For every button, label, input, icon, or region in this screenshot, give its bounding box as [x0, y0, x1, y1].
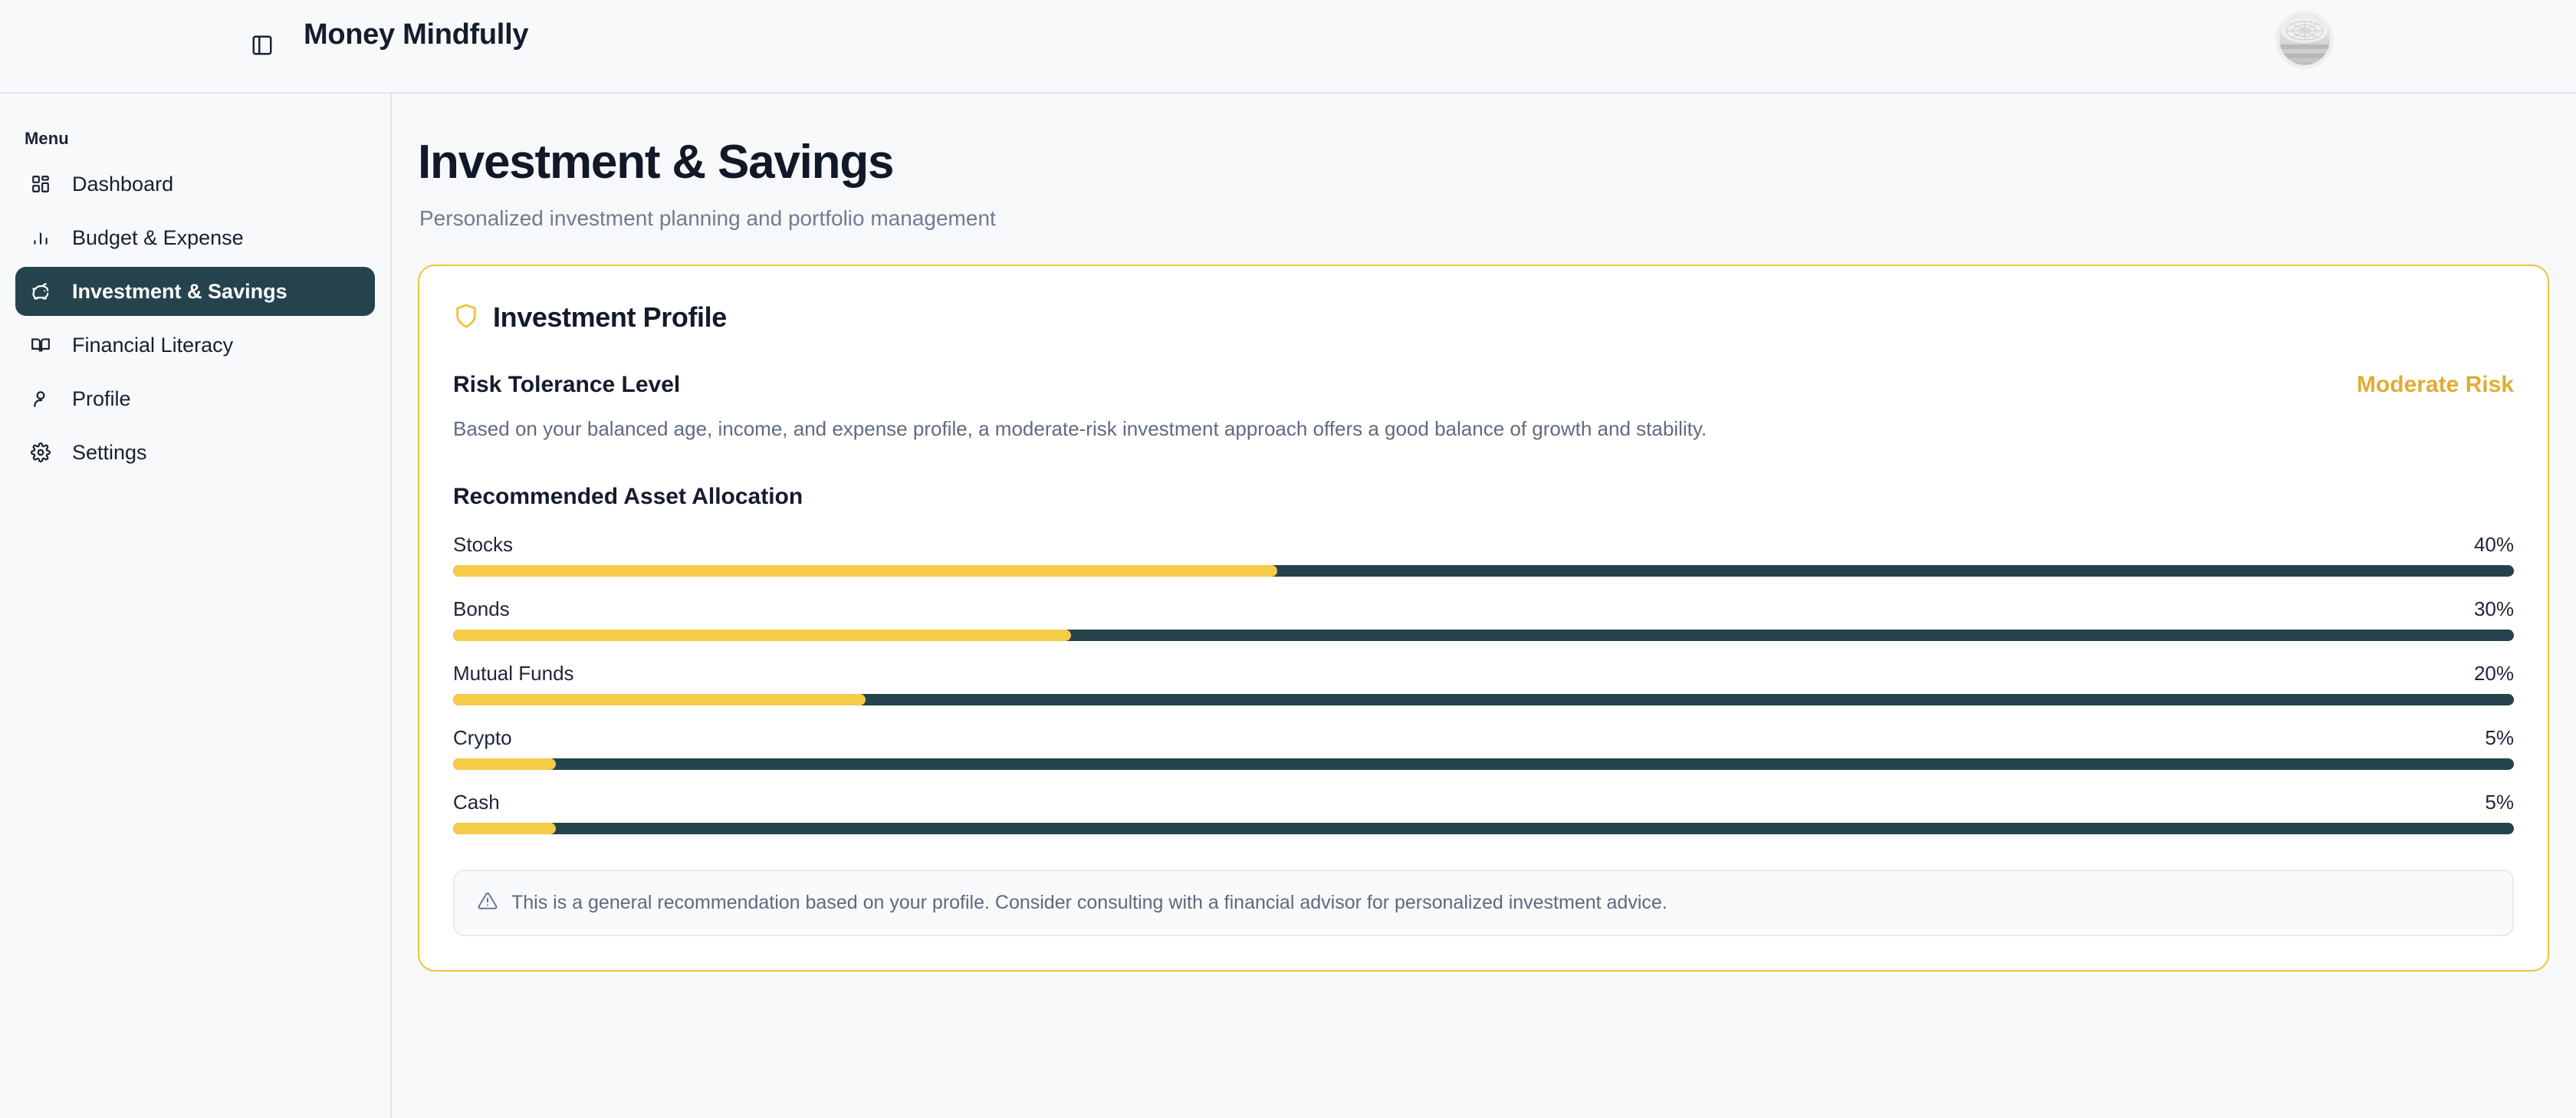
allocation-name: Stocks — [453, 533, 513, 557]
sidebar-item-label: Budget & Expense — [72, 226, 244, 250]
allocation-name: Bonds — [453, 597, 510, 621]
allocation-name: Mutual Funds — [453, 662, 574, 686]
disclaimer-notice: This is a general recommendation based o… — [453, 870, 2514, 936]
user-avatar-image — [2275, 11, 2334, 69]
alert-triangle-icon — [478, 891, 498, 915]
allocation-bar-fill — [453, 565, 1277, 577]
layout-grid-icon — [31, 173, 61, 196]
allocation-bar-fill — [453, 823, 556, 834]
allocation-name: Crypto — [453, 726, 512, 750]
panel-left-icon — [251, 34, 274, 59]
sidebar-item-profile[interactable]: Profile — [15, 374, 375, 423]
allocation-percent: 20% — [2474, 662, 2514, 686]
top-bar: Money Mindfully — [0, 0, 2576, 94]
app-title: Money Mindfully — [304, 18, 528, 51]
allocation-row: Bonds 30% — [453, 597, 2514, 641]
allocation-bar-fill — [453, 630, 1071, 641]
allocation-percent: 30% — [2474, 597, 2514, 621]
allocation-percent: 5% — [2485, 791, 2514, 814]
sidebar-item-label: Settings — [72, 441, 147, 465]
allocation-percent: 40% — [2474, 533, 2514, 557]
sidebar-item-budget-expense[interactable]: Budget & Expense — [15, 213, 375, 262]
allocation-bar-track — [453, 758, 2514, 770]
investment-profile-card: Investment Profile Risk Tolerance Level … — [418, 265, 2549, 972]
book-open-icon — [31, 334, 61, 357]
sidebar-toggle-button[interactable] — [245, 29, 279, 63]
allocation-bar-track — [453, 565, 2514, 577]
avatar[interactable] — [2275, 11, 2334, 69]
sidebar: Menu Dashboard Budget & Expense — [0, 94, 392, 1118]
gear-icon — [31, 441, 61, 464]
allocation-bar-fill — [453, 758, 556, 770]
card-title: Investment Profile — [493, 301, 727, 334]
card-header: Investment Profile — [453, 301, 2514, 334]
piggy-bank-icon — [31, 280, 61, 303]
allocation-name: Cash — [453, 791, 500, 814]
sidebar-item-label: Dashboard — [72, 173, 173, 196]
risk-tolerance-label: Risk Tolerance Level — [453, 372, 680, 398]
page-title: Investment & Savings — [418, 135, 2576, 189]
sidebar-item-investment-savings[interactable]: Investment & Savings — [15, 267, 375, 316]
sidebar-item-settings[interactable]: Settings — [15, 428, 375, 477]
disclaimer-text: This is a general recommendation based o… — [511, 892, 1667, 914]
sidebar-item-label: Investment & Savings — [72, 280, 287, 304]
bar-chart-icon — [31, 226, 61, 249]
user-icon — [31, 387, 61, 410]
risk-tolerance-row: Risk Tolerance Level Moderate Risk — [453, 372, 2514, 398]
sidebar-item-dashboard[interactable]: Dashboard — [15, 159, 375, 209]
allocation-bar-track — [453, 823, 2514, 834]
allocation-row: Crypto 5% — [453, 726, 2514, 770]
allocation-bar-track — [453, 694, 2514, 705]
sidebar-item-label: Financial Literacy — [72, 334, 233, 357]
allocation-bar-track — [453, 630, 2514, 641]
main-content: Investment & Savings Personalized invest… — [392, 94, 2576, 1118]
allocation-row: Mutual Funds 20% — [453, 662, 2514, 705]
page-subtitle: Personalized investment planning and por… — [419, 206, 2576, 231]
allocation-row: Cash 5% — [453, 791, 2514, 834]
allocation-bar-fill — [453, 694, 866, 705]
allocation-percent: 5% — [2485, 726, 2514, 750]
risk-level-badge: Moderate Risk — [2357, 372, 2514, 398]
sidebar-section-label: Menu — [25, 129, 390, 149]
shield-icon — [453, 303, 479, 333]
asset-allocation-list: Stocks 40% Bonds 30% Mutual Funds — [453, 533, 2514, 834]
risk-description: Based on your balanced age, income, and … — [453, 415, 2514, 444]
sidebar-item-financial-literacy[interactable]: Financial Literacy — [15, 321, 375, 370]
allocation-title: Recommended Asset Allocation — [453, 484, 2514, 510]
allocation-row: Stocks 40% — [453, 533, 2514, 577]
sidebar-item-label: Profile — [72, 387, 131, 411]
